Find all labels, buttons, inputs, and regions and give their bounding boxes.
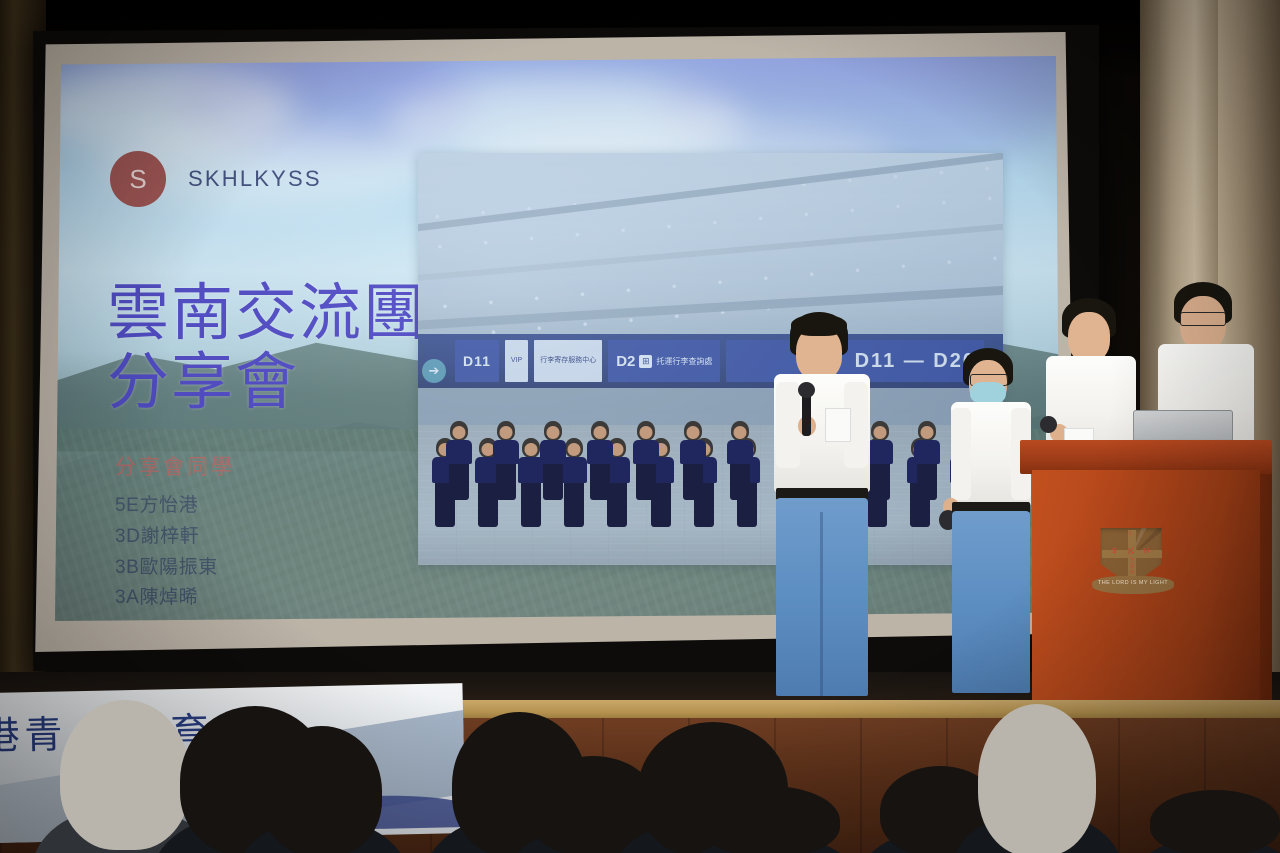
- legs: [478, 483, 498, 527]
- trouser-crease: [820, 512, 823, 696]
- roster-list: 5E方怡港 3D謝梓軒 3B歐陽振東 3A陳焯晞: [115, 491, 235, 614]
- legs: [636, 464, 656, 500]
- torso: [914, 440, 940, 464]
- group-photo-person: [585, 421, 615, 489]
- group-photo-person: [912, 421, 942, 489]
- podium-top: [1020, 440, 1272, 474]
- group-photo-person: [444, 421, 474, 489]
- legs: [917, 464, 937, 500]
- list-item: 3D謝梓軒: [115, 522, 235, 553]
- presenter-student-masked: [945, 348, 1037, 696]
- group-photo-person: [538, 421, 568, 489]
- face: [640, 426, 653, 439]
- list-item: 3B歐陽振東: [115, 553, 235, 584]
- slide-logo: S SKHLKYSS: [110, 151, 322, 207]
- microphone-head: [798, 382, 815, 398]
- audience-member: [978, 704, 1096, 853]
- torso: [540, 440, 566, 464]
- crest-letter-l: L: [1129, 531, 1132, 537]
- legs: [449, 464, 469, 500]
- crest-letters-yss: YSS: [1130, 558, 1134, 576]
- torso: [587, 440, 613, 464]
- arm-left: [776, 382, 800, 468]
- presenter-student-podium-left: [1046, 298, 1138, 458]
- audience-member: [1150, 790, 1280, 853]
- legs: [730, 464, 750, 500]
- torso: [727, 440, 753, 464]
- torso: [633, 440, 659, 464]
- legs: [496, 464, 516, 500]
- glasses-icon: [1180, 312, 1226, 326]
- face: [734, 426, 747, 439]
- microphone-head: [1040, 416, 1057, 433]
- presenter-speaker-center: [768, 312, 878, 697]
- airport-group-photo: ➔ D11 VIP 行李寄存服務中心 D2 ⊞ 托運行李查詢處 ← D11 — …: [418, 153, 1003, 565]
- audience-member: [700, 786, 840, 853]
- slide-title-line1: 雲南交流團: [107, 276, 427, 349]
- presenter-roster: 分享會同學 5E方怡港 3D謝梓軒 3B歐陽振東 3A陳焯晞: [115, 451, 235, 614]
- list-item: 5E方怡港: [115, 491, 235, 522]
- head: [1068, 312, 1110, 362]
- group-photo-person: [491, 421, 521, 489]
- logo-mark-icon: S: [110, 151, 166, 207]
- group-photo-person: [678, 421, 708, 489]
- arm-left: [951, 408, 971, 500]
- audience-member: [262, 726, 382, 853]
- legs: [590, 464, 610, 500]
- face: [687, 426, 700, 439]
- face: [568, 443, 581, 456]
- photograph-scene: S SKHLKYSS 雲南交流團 分享會 ➔ 分享會同學 5E方怡港 3D謝梓軒…: [0, 0, 1280, 853]
- school-abbreviation: SKHLKYSS: [188, 166, 322, 192]
- audience-member: [60, 700, 190, 850]
- legs: [564, 483, 584, 527]
- hair-fringe: [791, 314, 847, 336]
- torso: [680, 440, 706, 464]
- group-photo-person: [725, 421, 755, 489]
- legs: [543, 464, 563, 500]
- legs: [521, 483, 541, 527]
- crest-motto: THE LORD IS MY LIGHT: [1092, 580, 1174, 586]
- face: [500, 426, 513, 439]
- cue-card: [825, 408, 851, 442]
- roster-heading: 分享會同學: [115, 451, 235, 481]
- torso: [493, 440, 519, 464]
- crest-letter-k: K: [1128, 546, 1135, 556]
- legs: [683, 464, 703, 500]
- face: [593, 426, 606, 439]
- group-photo-person: [631, 421, 661, 489]
- school-crest: L S K H YSS THE LORD IS MY LIGHT: [1092, 528, 1174, 602]
- face: [453, 426, 466, 439]
- crest-letter-s: S: [1112, 548, 1117, 555]
- trousers: [952, 511, 1030, 693]
- face: [546, 426, 559, 439]
- projected-slide: S SKHLKYSS 雲南交流團 分享會 ➔ 分享會同學 5E方怡港 3D謝梓軒…: [55, 56, 1060, 621]
- crest-letter-h: H: [1144, 548, 1149, 555]
- face: [921, 426, 934, 439]
- face: [525, 443, 538, 456]
- legs: [607, 483, 627, 527]
- torso: [446, 440, 472, 464]
- list-item: 3A陳焯晞: [115, 583, 235, 614]
